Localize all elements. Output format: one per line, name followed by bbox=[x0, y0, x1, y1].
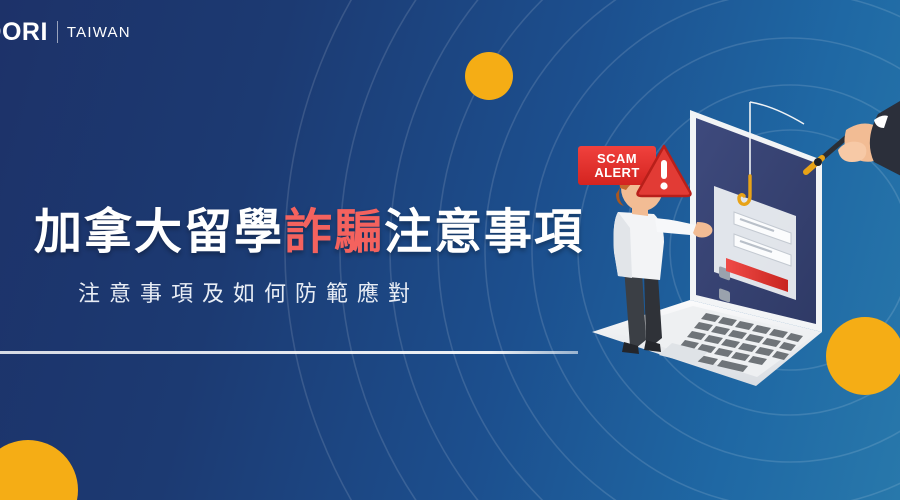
promo-banner: SCAM ALERT OORI TAIWAN 加拿大留學詐騙注意事項 注意事項及… bbox=[0, 0, 900, 500]
brand-region-label: TAIWAN bbox=[67, 25, 131, 40]
yellow-circle-icon bbox=[0, 440, 78, 500]
title-part-2: 注意事項 bbox=[384, 206, 584, 259]
horizontal-rule-icon bbox=[0, 351, 578, 354]
status-badge: SCAM ALERT bbox=[578, 142, 686, 198]
page-subtitle: 注意事項及如何防範應對 bbox=[0, 280, 600, 309]
warning-triangle-exclamation-icon bbox=[636, 142, 692, 198]
brand-logo[interactable]: OORI TAIWAN bbox=[0, 18, 131, 46]
scam-alert-line1: SCAM bbox=[597, 152, 637, 166]
headline-block: 加拿大留學詐騙注意事項 注意事項及如何防範應對 bbox=[0, 205, 600, 308]
title-part-1: 加拿大留學 bbox=[34, 206, 284, 259]
title-highlight: 詐騙 bbox=[284, 206, 384, 259]
logo-divider-icon bbox=[57, 21, 58, 43]
scam-alert-line2: ALERT bbox=[594, 166, 639, 180]
hand-suit-sleeve-icon bbox=[838, 100, 900, 178]
page-title: 加拿大留學詐騙注意事項 bbox=[0, 205, 600, 262]
yellow-circle-icon bbox=[465, 52, 513, 100]
brand-wordmark: OORI bbox=[0, 20, 48, 45]
